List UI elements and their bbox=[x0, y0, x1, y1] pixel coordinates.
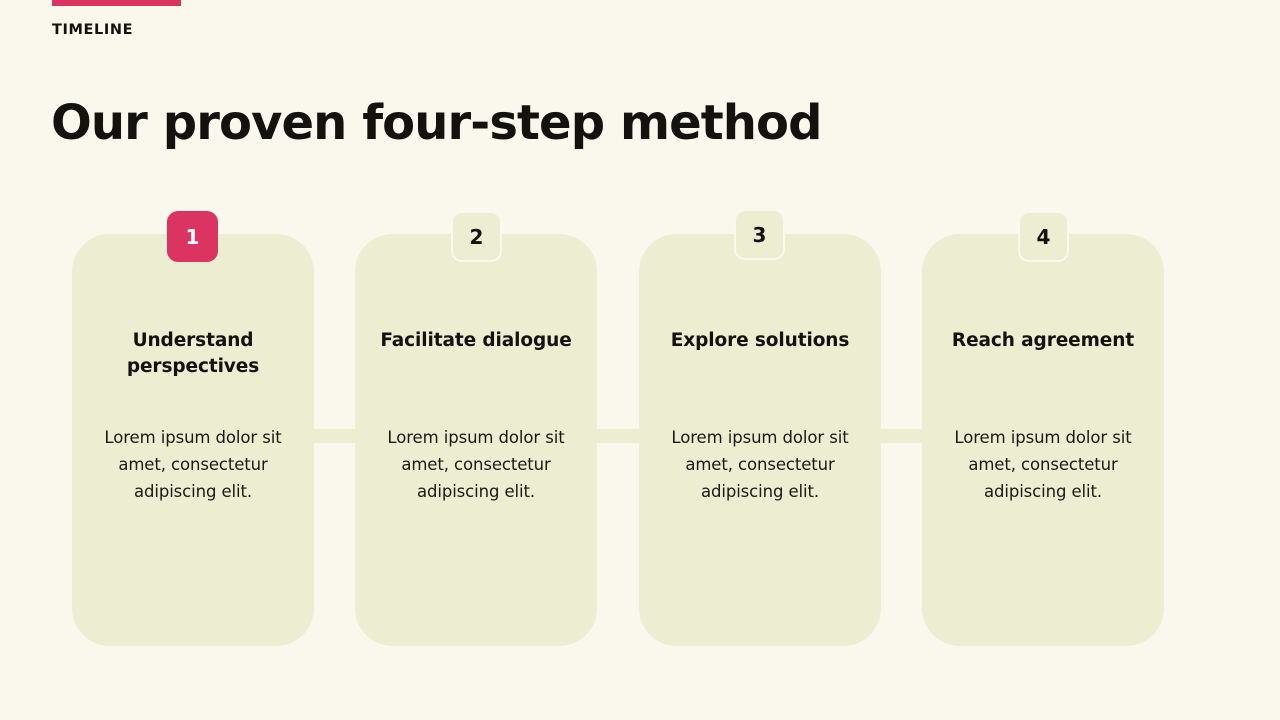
card-heading: Reach agreement bbox=[936, 328, 1150, 354]
card-body: Lorem ipsum dolor sit amet, consectetur … bbox=[86, 424, 300, 505]
timeline-card-1[interactable]: Understand perspectives Lorem ipsum dolo… bbox=[72, 234, 314, 646]
card-heading: Understand perspectives bbox=[86, 328, 300, 381]
step-badge-1[interactable]: 1 bbox=[167, 211, 218, 262]
step-badge-3[interactable]: 3 bbox=[734, 209, 785, 260]
timeline: Understand perspectives Lorem ipsum dolo… bbox=[0, 0, 1280, 720]
timeline-card-4[interactable]: Reach agreement Lorem ipsum dolor sit am… bbox=[922, 234, 1164, 646]
timeline-card-2[interactable]: Facilitate dialogue Lorem ipsum dolor si… bbox=[355, 234, 597, 646]
step-badge-2[interactable]: 2 bbox=[451, 211, 502, 262]
card-body: Lorem ipsum dolor sit amet, consectetur … bbox=[653, 424, 867, 505]
card-heading: Facilitate dialogue bbox=[369, 328, 583, 354]
step-badge-4[interactable]: 4 bbox=[1018, 211, 1069, 262]
card-body: Lorem ipsum dolor sit amet, consectetur … bbox=[936, 424, 1150, 505]
card-body: Lorem ipsum dolor sit amet, consectetur … bbox=[369, 424, 583, 505]
card-heading: Explore solutions bbox=[653, 328, 867, 354]
timeline-card-3[interactable]: Explore solutions Lorem ipsum dolor sit … bbox=[639, 234, 881, 646]
